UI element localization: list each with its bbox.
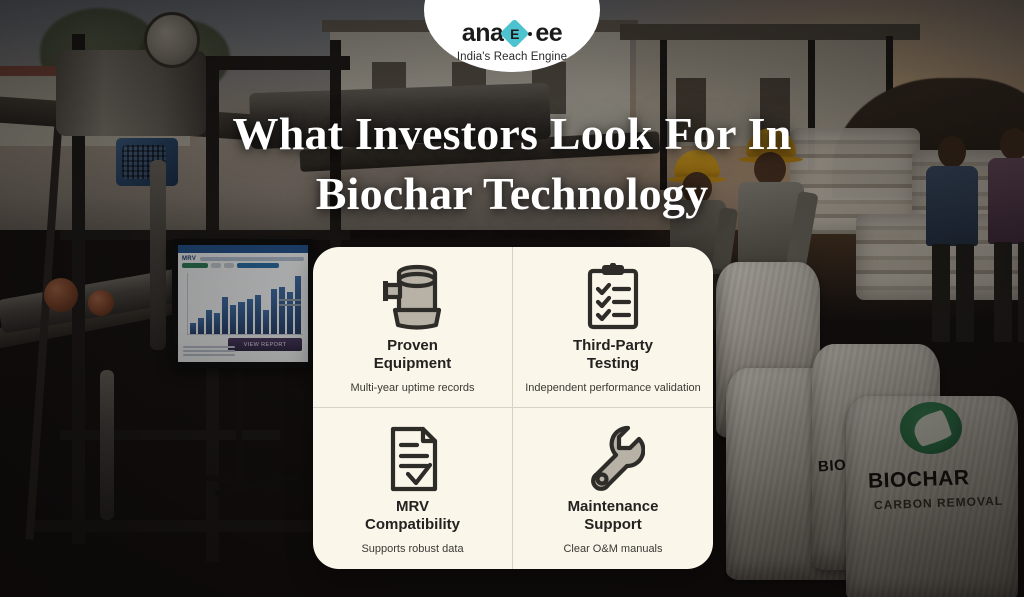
feature-cell-maintenance-support[interactable]: Maintenance Support Clear O&M manuals (513, 408, 713, 569)
feature-cell-mrv-compatibility[interactable]: MRV Compatibility Supports robust data (313, 408, 513, 569)
feature-subtitle: Supports robust data (361, 542, 463, 556)
brand-wordmark: ana E ee (462, 21, 562, 46)
feature-subtitle: Clear O&M manuals (563, 542, 662, 556)
feature-title: Proven Equipment (374, 337, 452, 374)
feature-cell-third-party-testing[interactable]: Third-Party Testing Independent performa… (513, 247, 713, 408)
reactor-vessel-icon (382, 261, 444, 335)
feature-grid: Proven Equipment Multi-year uptime recor… (313, 247, 713, 569)
feature-title-line2: Equipment (374, 355, 452, 373)
brand-tagline: India's Reach Engine (457, 51, 567, 63)
brand-wordmark-part1: ana (462, 21, 504, 46)
page-title-line2: Biochar Technology (0, 164, 1024, 224)
page-title: What Investors Look For In Biochar Techn… (0, 104, 1024, 224)
brand-diamond-letter: E (504, 23, 525, 44)
promo-graphic: MRV VIEW REPORT (0, 0, 1024, 597)
brand-dot-icon (528, 32, 532, 36)
feature-title-line1: MRV (365, 498, 460, 516)
feature-title-line2: Support (568, 516, 659, 534)
feature-title: MRV Compatibility (365, 498, 460, 535)
brand-diamond-icon: E (500, 19, 530, 49)
page-title-line1: What Investors Look For In (0, 104, 1024, 164)
feature-title-line2: Testing (573, 355, 653, 373)
wrench-icon (581, 422, 645, 496)
clipboard-checklist-icon (583, 261, 643, 335)
feature-title: Maintenance Support (568, 498, 659, 535)
feature-subtitle: Independent performance validation (525, 381, 701, 395)
feature-title-line1: Third-Party (573, 337, 653, 355)
brand-wordmark-part2: ee (535, 21, 562, 46)
feature-subtitle: Multi-year uptime records (350, 381, 474, 395)
feature-title-line2: Compatibility (365, 516, 460, 534)
feature-cell-proven-equipment[interactable]: Proven Equipment Multi-year uptime recor… (313, 247, 513, 408)
feature-title-line1: Proven (374, 337, 452, 355)
document-check-icon (384, 422, 442, 496)
feature-card: Proven Equipment Multi-year uptime recor… (313, 247, 713, 569)
feature-title-line1: Maintenance (568, 498, 659, 516)
feature-title: Third-Party Testing (573, 337, 653, 374)
